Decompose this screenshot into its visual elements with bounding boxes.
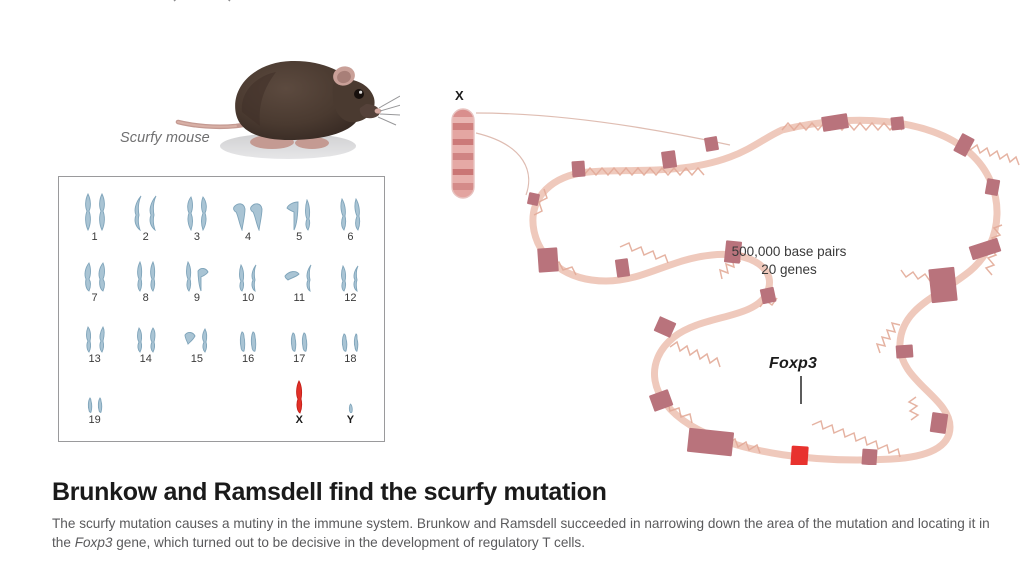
chromosome-pair xyxy=(82,252,108,292)
chromosome-y xyxy=(347,374,354,414)
chromosome-pair xyxy=(83,313,107,353)
karyotype-cell-empty xyxy=(223,374,274,435)
chromosome-pair xyxy=(132,191,160,231)
figure-area: Scurfy mouse 1 xyxy=(0,0,1024,470)
chromosome-label: 1 xyxy=(92,232,98,243)
chromosome-label: 9 xyxy=(194,293,200,304)
chromosome-pair xyxy=(340,313,360,353)
chromosome-label: 7 xyxy=(92,293,98,304)
chromosome-pair xyxy=(284,252,315,292)
karyotype-cell: 13 xyxy=(69,313,120,374)
karyotype-cell: 5 xyxy=(274,191,325,252)
karyotype-cell-empty xyxy=(171,374,222,435)
chromosome-pair xyxy=(82,191,108,231)
karyotype-cell: 2 xyxy=(120,191,171,252)
karyotype-grid: 1 2 3 xyxy=(59,177,384,441)
chromosome-label: 4 xyxy=(245,232,251,243)
chromosome-x-mutated xyxy=(293,374,305,414)
base-pairs-line2: 20 genes xyxy=(709,261,869,279)
chromosome-pair xyxy=(337,191,363,231)
foxp3-leader-line xyxy=(800,376,802,404)
mouse-icon xyxy=(160,42,400,177)
karyotype-pointer-line xyxy=(172,0,232,2)
karyotype-cell: 10 xyxy=(223,252,274,313)
chromosome-label: Y xyxy=(347,415,354,426)
chromosome-pair xyxy=(134,313,158,353)
karyotype-cell: 15 xyxy=(171,313,222,374)
karyotype-cell-sex-y: Y xyxy=(325,374,376,435)
illustration-root: Scurfy mouse 1 xyxy=(0,0,1024,576)
chromosome-label: 6 xyxy=(347,232,353,243)
chromosome-label: 8 xyxy=(143,293,149,304)
gene-blocks xyxy=(527,113,1002,465)
chromosome-label: 14 xyxy=(140,354,152,365)
chromosome-pair xyxy=(134,252,158,292)
base-pairs-line1: 500,000 base pairs xyxy=(732,244,847,259)
karyotype-cell: 4 xyxy=(223,191,274,252)
foxp3-gene-marker xyxy=(790,445,808,465)
chromosome-pair xyxy=(339,252,361,292)
karyotype-cell: 12 xyxy=(325,252,376,313)
chromosome-pair xyxy=(238,313,258,353)
chromosome-label: 13 xyxy=(88,354,100,365)
chromosome-label: 15 xyxy=(191,354,203,365)
caption-body-part2: gene, which turned out to be decisive in… xyxy=(112,535,585,550)
karyotype-cell: 7 xyxy=(69,252,120,313)
karyotype-cell: 16 xyxy=(223,313,274,374)
mouse-illustration: Scurfy mouse xyxy=(160,42,400,177)
base-pairs-note: 500,000 base pairs 20 genes xyxy=(709,243,869,279)
chromosome-label: 16 xyxy=(242,354,254,365)
chromosome-pair xyxy=(183,313,210,353)
chromosome-label: X xyxy=(296,415,303,426)
karyotype-cell: 17 xyxy=(274,313,325,374)
mouse-label: Scurfy mouse xyxy=(120,130,210,146)
chromosome-label: 17 xyxy=(293,354,305,365)
caption-body: The scurfy mutation causes a mutiny in t… xyxy=(52,514,1002,553)
chromosome-pair xyxy=(285,191,313,231)
karyotype-cell: 14 xyxy=(120,313,171,374)
karyotype-cell: 1 xyxy=(69,191,120,252)
chromosome-label: 11 xyxy=(294,293,305,304)
chromosome-label: 3 xyxy=(194,232,200,243)
karyotype-cell: 18 xyxy=(325,313,376,374)
chromosome-label: 12 xyxy=(344,293,356,304)
caption: Brunkow and Ramsdell find the scurfy mut… xyxy=(52,478,1002,552)
chromosome-label: 18 xyxy=(344,354,356,365)
caption-gene-name: Foxp3 xyxy=(75,535,113,550)
chromosome-label: 19 xyxy=(88,415,100,426)
foxp3-label: Foxp3 xyxy=(769,355,817,373)
unravel-leader xyxy=(476,113,730,195)
chromosome-label: 10 xyxy=(242,293,254,304)
karyotype-cell: 3 xyxy=(171,191,222,252)
karyotype-cell: 6 xyxy=(325,191,376,252)
chromosome-pair xyxy=(86,374,104,414)
karyotype-cell-empty xyxy=(120,374,171,435)
karyotype-cell: 19 xyxy=(69,374,120,435)
chromosome-pair xyxy=(184,191,210,231)
karyotype-cell-sex-x: X xyxy=(274,374,325,435)
karyotype-cell: 9 xyxy=(171,252,222,313)
chromosome-pair xyxy=(183,252,210,292)
karyotype-cell: 8 xyxy=(120,252,171,313)
chromosome-pair xyxy=(232,191,264,231)
chromosome-label: 2 xyxy=(143,232,149,243)
caption-title: Brunkow and Ramsdell find the scurfy mut… xyxy=(52,478,1002,507)
chromosome-pair xyxy=(237,252,259,292)
chromosome-label: 5 xyxy=(296,232,302,243)
karyotype-panel: 1 2 3 xyxy=(58,176,385,442)
chromosome-pair xyxy=(289,313,309,353)
karyotype-cell: 11 xyxy=(274,252,325,313)
